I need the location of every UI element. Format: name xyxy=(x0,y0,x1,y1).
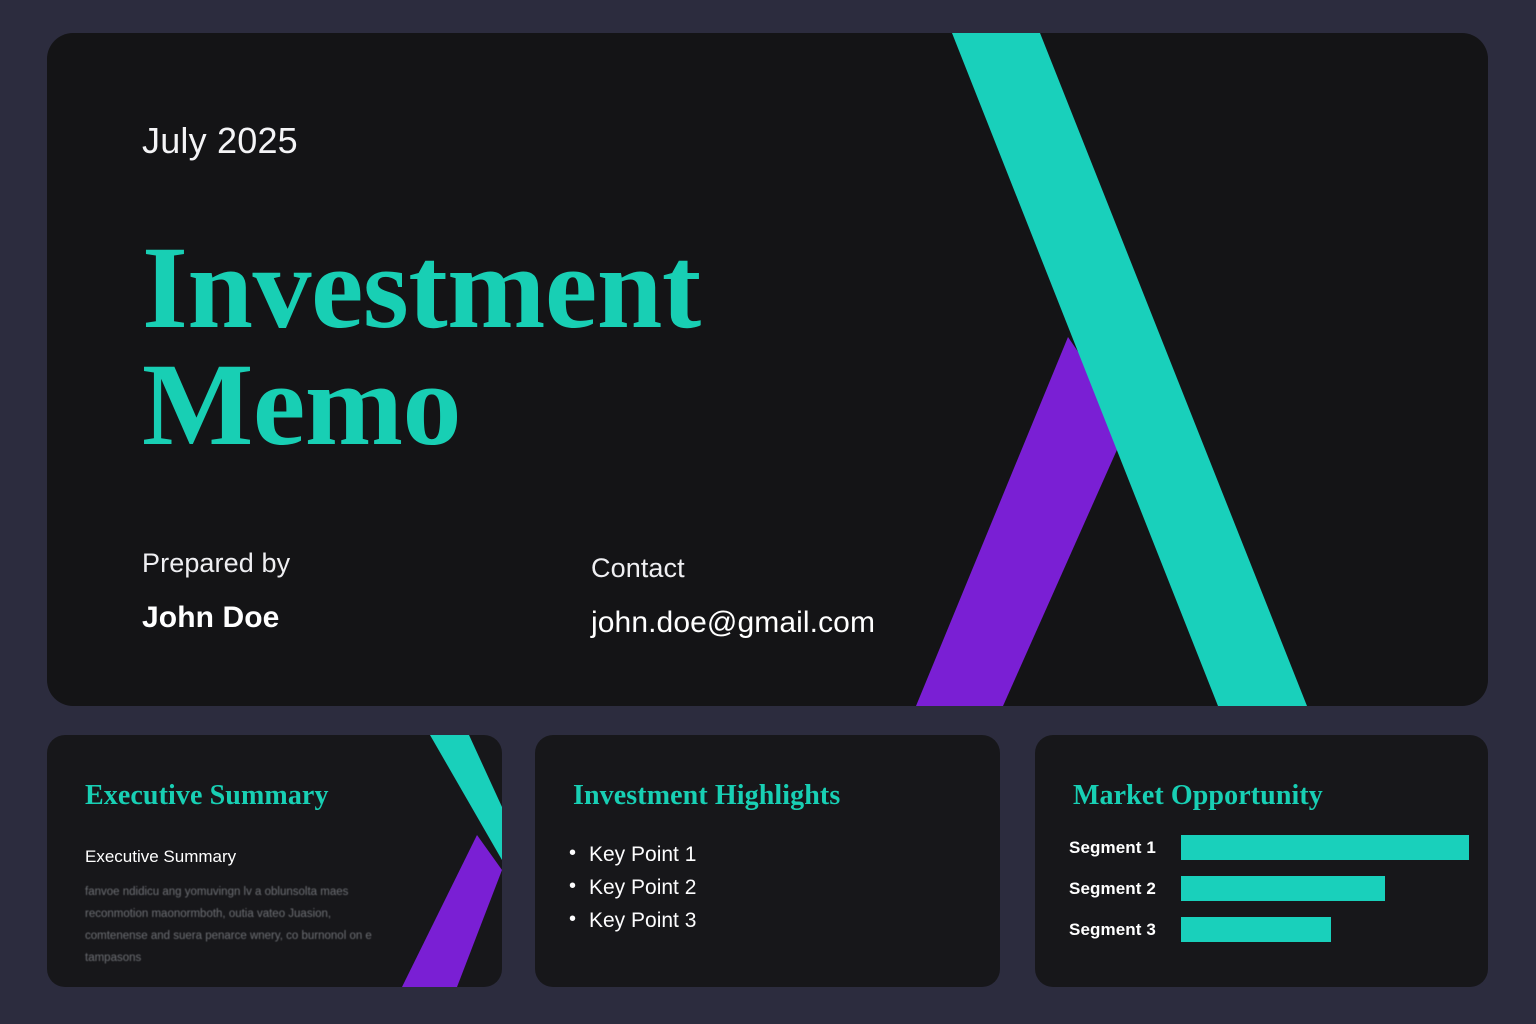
market-opportunity-bar-chart: Segment 1 Segment 2 Segment 3 xyxy=(1069,835,1469,958)
list-item: Key Point 1 xyxy=(567,843,696,867)
contact-value: john.doe@gmail.com xyxy=(591,606,875,640)
prepared-by-value: John Doe xyxy=(142,601,290,635)
card-heading-executive-summary: Executive Summary xyxy=(85,780,329,812)
contact-label: Contact xyxy=(591,553,875,584)
purple-diagonal-band xyxy=(402,835,502,987)
summary-cards-row: Executive Summary Executive Summary fanv… xyxy=(47,735,1488,987)
page-title-line-2: Memo xyxy=(142,347,701,464)
list-item: Key Point 3 xyxy=(567,909,696,933)
executive-summary-subtitle: Executive Summary xyxy=(85,847,236,867)
bar-label: Segment 1 xyxy=(1069,838,1181,858)
card-heading-investment-highlights: Investment Highlights xyxy=(573,780,840,812)
bar-label: Segment 2 xyxy=(1069,879,1181,899)
bar-row: Segment 2 xyxy=(1069,876,1469,901)
executive-summary-body: fanvoe ndidicu ang yomuvingn lv a obluns… xyxy=(85,882,385,969)
bar-label: Segment 3 xyxy=(1069,920,1181,940)
teal-diagonal-band xyxy=(430,735,502,860)
card-investment-highlights[interactable]: Investment Highlights Key Point 1 Key Po… xyxy=(535,735,1000,987)
page-title-line-1: Investment xyxy=(142,230,701,347)
card-market-opportunity[interactable]: Market Opportunity Segment 1 Segment 2 S… xyxy=(1035,735,1488,987)
hero-text-block: July 2025 Investment Memo Prepared by Jo… xyxy=(47,33,1488,706)
bar-fill xyxy=(1181,876,1385,901)
bar-track xyxy=(1181,876,1469,901)
key-points-list: Key Point 1 Key Point 2 Key Point 3 xyxy=(567,843,696,942)
page-title: Investment Memo xyxy=(142,230,701,464)
bar-track xyxy=(1181,835,1469,860)
bar-row: Segment 3 xyxy=(1069,917,1469,942)
prepared-by-label: Prepared by xyxy=(142,548,290,579)
contact-block: Contact john.doe@gmail.com xyxy=(591,553,875,640)
card-executive-summary[interactable]: Executive Summary Executive Summary fanv… xyxy=(47,735,502,987)
prepared-by-block: Prepared by John Doe xyxy=(142,548,290,635)
list-item: Key Point 2 xyxy=(567,876,696,900)
hero-card: July 2025 Investment Memo Prepared by Jo… xyxy=(47,33,1488,706)
bar-track xyxy=(1181,917,1469,942)
bar-row: Segment 1 xyxy=(1069,835,1469,860)
bar-fill xyxy=(1181,917,1331,942)
bar-fill xyxy=(1181,835,1469,860)
hero-date: July 2025 xyxy=(142,120,298,162)
card-heading-market-opportunity: Market Opportunity xyxy=(1073,780,1323,812)
